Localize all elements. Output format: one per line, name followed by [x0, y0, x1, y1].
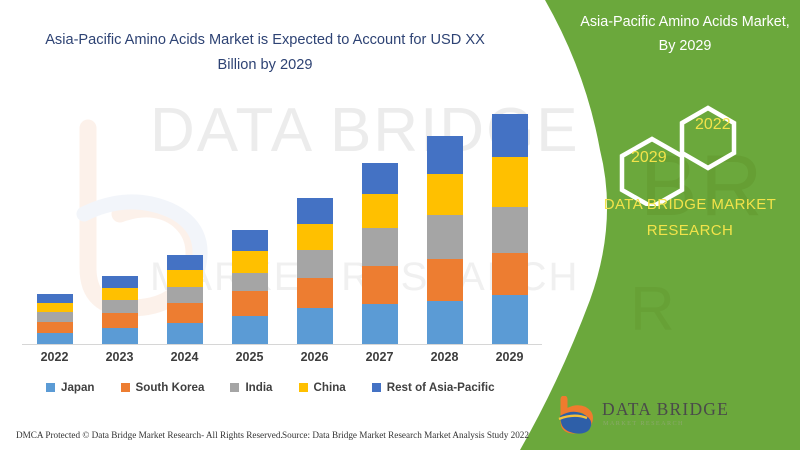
bar-segment — [362, 304, 398, 344]
bar-segment — [492, 253, 528, 295]
bar-group-2023 — [102, 276, 138, 344]
bar-segment — [427, 259, 463, 301]
bar-segment — [362, 194, 398, 228]
hexagon-badges: 2029 2022 — [612, 96, 787, 206]
legend-label: India — [245, 381, 272, 394]
x-tick-2026: 2026 — [289, 350, 341, 364]
legend-item[interactable]: China — [299, 381, 346, 394]
bar-segment — [297, 250, 333, 278]
page-title: Asia-Pacific Amino Acids Market is Expec… — [30, 28, 500, 78]
bar-segment — [167, 303, 203, 323]
bar-group-2029 — [492, 114, 528, 344]
bar-segment — [362, 163, 398, 194]
stacked-bar-chart — [22, 104, 542, 346]
bar-segment — [37, 333, 73, 344]
bar-segment — [167, 287, 203, 303]
legend-swatch-icon — [121, 383, 130, 392]
bar-segment — [427, 301, 463, 344]
bar-segment — [37, 294, 73, 303]
legend-swatch-icon — [46, 383, 55, 392]
bar-group-2024 — [167, 255, 203, 344]
bar-segment — [362, 228, 398, 266]
panel-title: Asia-Pacific Amino Acids Market, By 2029 — [580, 10, 790, 58]
logo-tagline: MARKET RESEARCH — [603, 420, 684, 427]
legend-item[interactable]: Japan — [46, 381, 95, 394]
bar-segment — [232, 316, 268, 344]
bar-segment — [297, 224, 333, 250]
bar-segment — [102, 288, 138, 300]
bar-segment — [167, 323, 203, 344]
bar-segment — [232, 251, 268, 273]
svg-text:R: R — [630, 275, 678, 344]
x-tick-2027: 2027 — [354, 350, 406, 364]
bar-segment — [37, 322, 73, 333]
legend-item[interactable]: South Korea — [121, 381, 205, 394]
x-axis-line — [22, 344, 542, 345]
bar-segment — [232, 230, 268, 251]
x-tick-2029: 2029 — [484, 350, 536, 364]
bar-segment — [102, 276, 138, 288]
bar-segment — [102, 300, 138, 313]
hex-label-2022: 2022 — [695, 116, 731, 134]
bar-segment — [297, 308, 333, 344]
panel-brand-line2: RESEARCH — [590, 218, 790, 244]
footer-copyright: DMCA Protected © Data Bridge Market Rese… — [16, 430, 283, 440]
x-tick-2024: 2024 — [159, 350, 211, 364]
legend-label: Japan — [61, 381, 95, 394]
panel-brand-text: DATA BRIDGE MARKET RESEARCH — [590, 192, 790, 244]
legend-label: Rest of Asia-Pacific — [387, 381, 495, 394]
bar-segment — [297, 278, 333, 308]
hex-label-2029: 2029 — [631, 149, 667, 167]
bar-segment — [427, 174, 463, 215]
x-axis-labels: 20222023202420252026202720282029 — [22, 350, 542, 370]
bar-group-2022 — [37, 294, 73, 344]
bar-segment — [37, 303, 73, 312]
legend-item[interactable]: India — [230, 381, 272, 394]
bar-segment — [232, 273, 268, 291]
legend-label: China — [314, 381, 346, 394]
infographic-page: DATA BRIDGE MARKET RESEARCH Asia-Pacific… — [0, 0, 800, 450]
legend-swatch-icon — [299, 383, 308, 392]
bar-segment — [492, 157, 528, 207]
legend-item[interactable]: Rest of Asia-Pacific — [372, 381, 495, 394]
bar-segment — [492, 295, 528, 344]
bar-group-2026 — [297, 198, 333, 344]
logo-name: DATA BRIDGE — [602, 399, 729, 420]
legend-swatch-icon — [230, 383, 239, 392]
panel-brand-line1: DATA BRIDGE MARKET — [590, 192, 790, 218]
x-tick-2028: 2028 — [419, 350, 471, 364]
bar-segment — [102, 313, 138, 328]
bar-group-2028 — [427, 136, 463, 344]
data-bridge-logo: DATA BRIDGE MARKET RESEARCH — [556, 396, 736, 438]
bar-segment — [427, 215, 463, 259]
bar-segment — [167, 255, 203, 270]
bar-segment — [37, 312, 73, 322]
bar-segment — [427, 136, 463, 174]
chart-legend: JapanSouth KoreaIndiaChinaRest of Asia-P… — [46, 381, 495, 394]
bar-segment — [232, 291, 268, 316]
chart-plot-area — [22, 104, 542, 344]
bar-group-2025 — [232, 230, 268, 344]
bar-segment — [362, 266, 398, 304]
bar-group-2027 — [362, 163, 398, 344]
x-tick-2022: 2022 — [29, 350, 81, 364]
bridge-b-mark-icon — [556, 396, 600, 436]
legend-swatch-icon — [372, 383, 381, 392]
bar-segment — [167, 270, 203, 287]
bar-segment — [492, 114, 528, 157]
bar-segment — [102, 328, 138, 344]
footer-source: Source: Data Bridge Market Research Mark… — [282, 430, 529, 440]
x-tick-2025: 2025 — [224, 350, 276, 364]
legend-label: South Korea — [136, 381, 205, 394]
bar-segment — [492, 207, 528, 253]
bar-segment — [297, 198, 333, 224]
x-tick-2023: 2023 — [94, 350, 146, 364]
